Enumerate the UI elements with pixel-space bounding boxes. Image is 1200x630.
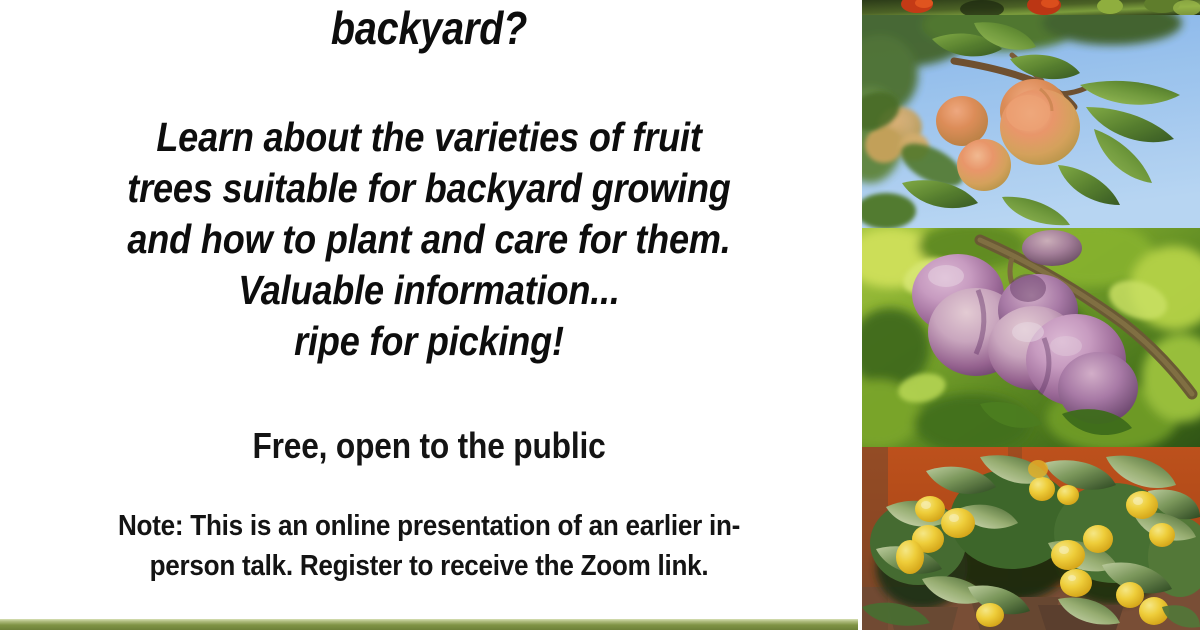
peaches-photo	[862, 15, 1200, 228]
registration-note: Note: This is an online presentation of …	[50, 506, 808, 586]
plums-photo	[862, 228, 1200, 447]
flyer-canvas: Yearning for an orchard in your backyard…	[0, 0, 1200, 630]
photo-stack	[858, 0, 1200, 630]
free-admission-line: Free, open to the public	[51, 424, 806, 468]
page-title: Yearning for an orchard in your backyard…	[60, 0, 798, 56]
body-copy: Learn about the varieties of fruit trees…	[51, 112, 806, 367]
bottom-green-rule	[0, 619, 858, 630]
text-column: Yearning for an orchard in your backyard…	[0, 0, 858, 630]
apples-sliver-photo	[862, 0, 1200, 15]
potted-citrus-photo	[862, 447, 1200, 630]
